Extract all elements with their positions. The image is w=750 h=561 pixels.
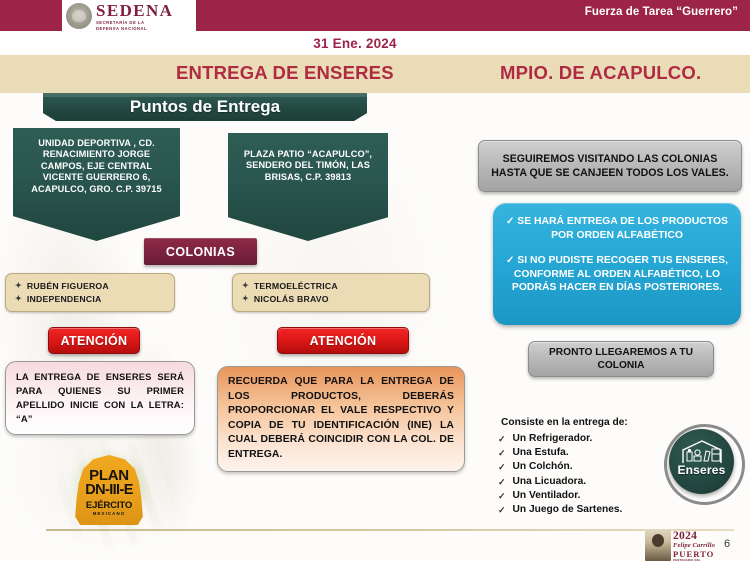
sedena-subtitle-line2: DEFENSA NACIONAL <box>96 26 173 31</box>
blue-info-item-2-text: SI NO PUDISTE RECOGER TUS ENSERES, CONFO… <box>512 255 728 293</box>
enseres-badge: Enseres <box>669 429 734 494</box>
colonias-list-right: ✦ TERMOELÉCTRICA ✦ NICOLÁS BRAVO <box>232 273 430 312</box>
list-item: ✓ Un Juego de Sartenes. <box>498 503 622 517</box>
blue-info-item-2: ✓ SI NO PUDISTE RECOGER TUS ENSERES, CON… <box>505 254 729 295</box>
colonias-list-left: ✦ RUBÉN FIGUEROA ✦ INDEPENDENCIA <box>5 273 175 312</box>
delivery-point-text-2: PLAZA PATIO “ACAPULCO”, SENDERO DEL TIMÓ… <box>228 133 388 183</box>
list-item: ✓ Un Ventilador. <box>498 489 622 503</box>
presentation-date: 31 Ene. 2024 <box>313 36 396 51</box>
consiste-item: Un Refrigerador. <box>513 432 593 446</box>
colonia-name: NICOLÁS BRAVO <box>254 293 329 306</box>
appliances-house-icon <box>681 440 723 464</box>
municipality-title: MPIO. DE ACAPULCO. <box>500 62 701 84</box>
consiste-item: Una Estufa. <box>513 446 569 460</box>
sedena-subtitle-line1: SECRETARÍA DE LA <box>96 20 173 25</box>
check-icon: ✓ <box>506 216 514 227</box>
blue-info-item-1-text: SE HARÁ ENTREGA DE LOS PRODUCTOS POR ORD… <box>517 216 728 241</box>
list-item: ✓ Una Estufa. <box>498 446 622 460</box>
blue-info-panel: ✓ SE HARÁ ENTREGA DE LOS PRODUCTOS POR O… <box>493 203 741 325</box>
diamond-bullet-icon: ✦ <box>15 280 22 293</box>
colonia-name: TERMOELÉCTRICA <box>254 280 338 293</box>
check-icon: ✓ <box>498 432 506 446</box>
attention-badge-left: ATENCIÓN <box>48 327 140 354</box>
plan-logo-line2: DN-III-E <box>73 483 145 498</box>
list-item: ✦ NICOLÁS BRAVO <box>242 293 420 306</box>
page-title: ENTREGA DE ENSERES <box>176 62 394 84</box>
delivery-point-card-1: UNIDAD DEPORTIVA , CD. RENACIMIENTO JORG… <box>13 128 180 241</box>
colonia-name: RUBÉN FIGUEROA <box>27 280 109 293</box>
list-item: ✓ Un Refrigerador. <box>498 432 622 446</box>
list-item: ✦ RUBÉN FIGUEROA <box>15 280 165 293</box>
footer-year: 2024 <box>673 530 697 542</box>
check-icon: ✓ <box>498 503 506 517</box>
sedena-logo: SEDENA SECRETARÍA DE LA DEFENSA NACIONAL <box>62 0 196 31</box>
consiste-item: Un Ventilador. <box>513 489 581 503</box>
sedena-logo-text: SEDENA SECRETARÍA DE LA DEFENSA NACIONAL <box>96 2 173 32</box>
check-icon: ✓ <box>506 255 514 266</box>
plan-logo-line3: EJÉRCITO <box>73 501 145 511</box>
plan-logo-line4: MEXICANO <box>73 511 145 516</box>
list-item: ✦ TERMOELÉCTRICA <box>242 280 420 293</box>
notice-visiting-colonias: SEGUIREMOS VISITANDO LAS COLONIAS HASTA … <box>478 140 742 192</box>
notice-pronto-llegaremos: PRONTO LLEGAREMOS A TU COLONIA <box>528 341 714 377</box>
blue-info-item-1: ✓ SE HARÁ ENTREGA DE LOS PRODUCTOS POR O… <box>505 215 729 242</box>
delivery-points-banner: Puntos de Entrega <box>43 93 367 121</box>
list-item: ✦ INDEPENDENCIA <box>15 293 165 306</box>
diamond-bullet-icon: ✦ <box>15 293 22 306</box>
check-icon: ✓ <box>498 460 506 474</box>
task-force-label: Fuerza de Tarea “Guerrero” <box>585 6 738 18</box>
attention-note-right-text: RECUERDA QUE PARA LA ENTREGA DE LOS PROD… <box>218 367 464 471</box>
footer-divider <box>46 529 734 531</box>
footer-commemorative-logo: 2024 Felipe Carrillo PUERTO CENTENARIO D… <box>645 529 715 561</box>
check-icon: ✓ <box>498 475 506 489</box>
page-number: 6 <box>724 538 730 550</box>
colonias-label: COLONIAS <box>144 238 257 265</box>
enseres-badge-label: Enseres <box>669 463 734 477</box>
list-item: ✓ Una Licuadora. <box>498 475 622 489</box>
attention-note-left: LA ENTREGA DE ENSERES SERÁ PARA QUIENES … <box>5 361 195 435</box>
plan-dniii-e-logo: PLAN DN-III-E EJÉRCITO MEXICANO <box>73 455 145 525</box>
consiste-item: Un Juego de Sartenes. <box>513 503 623 517</box>
plan-logo-line1: PLAN <box>73 468 145 483</box>
mexican-coat-of-arms-icon <box>66 3 92 29</box>
list-item: ✓ Un Colchón. <box>498 460 622 474</box>
consiste-item: Un Colchón. <box>513 460 573 474</box>
consiste-item: Una Licuadora. <box>513 475 587 489</box>
slide-canvas: SEDENA SECRETARÍA DE LA DEFENSA NACIONAL… <box>0 0 750 561</box>
check-icon: ✓ <box>498 489 506 503</box>
sedena-abbr: SEDENA <box>96 2 173 19</box>
date-row: 31 Ene. 2024 <box>0 32 750 54</box>
consiste-list: ✓ Un Refrigerador. ✓ Una Estufa. ✓ Un Co… <box>498 432 622 517</box>
attention-badge-right: ATENCIÓN <box>277 327 409 354</box>
attention-note-left-text: LA ENTREGA DE ENSERES SERÁ PARA QUIENES … <box>6 362 194 434</box>
colonia-name: INDEPENDENCIA <box>27 293 102 306</box>
consiste-title: Consiste en la entrega de: <box>501 417 628 428</box>
delivery-point-card-2: PLAZA PATIO “ACAPULCO”, SENDERO DEL TIMÓ… <box>228 133 388 241</box>
footer-name-italic: Felipe Carrillo <box>673 542 715 549</box>
diamond-bullet-icon: ✦ <box>242 293 249 306</box>
check-icon: ✓ <box>498 446 506 460</box>
diamond-bullet-icon: ✦ <box>242 280 249 293</box>
portrait-icon <box>645 529 671 561</box>
delivery-point-text-1: UNIDAD DEPORTIVA , CD. RENACIMIENTO JORG… <box>13 128 180 195</box>
attention-note-right: RECUERDA QUE PARA LA ENTREGA DE LOS PROD… <box>217 366 465 472</box>
